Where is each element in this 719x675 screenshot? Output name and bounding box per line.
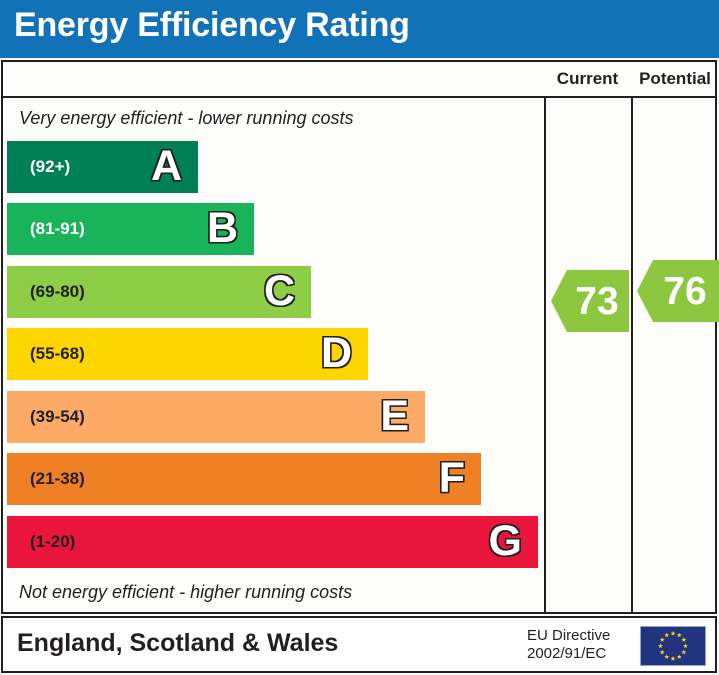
band-a-range: (92+) xyxy=(30,141,70,193)
band-d-range: (55-68) xyxy=(30,328,85,380)
band-c: (69-80) C xyxy=(7,266,311,318)
potential-rating-column: 76 xyxy=(633,98,719,614)
band-e: (39-54) E xyxy=(7,391,425,443)
band-d: (55-68) D xyxy=(7,328,368,380)
column-header-current: Current xyxy=(544,62,631,96)
band-f-range: (21-38) xyxy=(30,453,85,505)
band-b-letter: B xyxy=(207,203,238,255)
potential-rating-arrow: 76 xyxy=(637,260,719,322)
band-a: (92+) A xyxy=(7,141,198,193)
current-rating-arrow: 73 xyxy=(551,270,629,332)
eu-flag-icon xyxy=(640,626,706,666)
table-header-row: Current Potential xyxy=(3,62,715,98)
current-rating-column: 73 xyxy=(546,98,631,614)
footer-directive-line1: EU Directive xyxy=(527,627,635,645)
band-e-range: (39-54) xyxy=(30,391,85,443)
band-g-range: (1-20) xyxy=(30,516,75,568)
footer-region-label: England, Scotland & Wales xyxy=(17,629,338,658)
band-list: (92+) A (81-91) B (69-80) C (55-68) D xyxy=(7,141,544,579)
band-c-range: (69-80) xyxy=(30,266,85,318)
band-b-range: (81-91) xyxy=(30,203,85,255)
footer-bar: England, Scotland & Wales EU Directive 2… xyxy=(1,616,717,673)
caption-not-efficient: Not energy efficient - higher running co… xyxy=(19,582,352,603)
band-e-letter: E xyxy=(380,391,409,443)
band-b: (81-91) B xyxy=(7,203,254,255)
potential-rating-value: 76 xyxy=(663,272,706,311)
bands-chart-area: Very energy efficient - lower running co… xyxy=(3,98,544,614)
footer-directive: EU Directive 2002/91/EC xyxy=(527,627,635,663)
energy-efficiency-rating-chart: Energy Efficiency Rating Current Potenti… xyxy=(0,0,719,675)
band-g-letter: G xyxy=(489,516,522,568)
current-rating-value: 73 xyxy=(575,282,618,321)
band-g: (1-20) G xyxy=(7,516,538,568)
caption-very-efficient: Very energy efficient - lower running co… xyxy=(19,108,354,129)
band-f-letter: F xyxy=(439,453,465,505)
band-f: (21-38) F xyxy=(7,453,481,505)
page-title: Energy Efficiency Rating xyxy=(14,6,410,45)
band-c-letter: C xyxy=(264,266,295,318)
footer-directive-line2: 2002/91/EC xyxy=(527,645,635,663)
column-header-potential: Potential xyxy=(631,62,719,96)
band-a-letter: A xyxy=(151,141,182,193)
band-d-letter: D xyxy=(321,328,352,380)
rating-table: Current Potential Very energy efficient … xyxy=(1,60,717,614)
chart-title-bar: Energy Efficiency Rating xyxy=(0,0,719,58)
